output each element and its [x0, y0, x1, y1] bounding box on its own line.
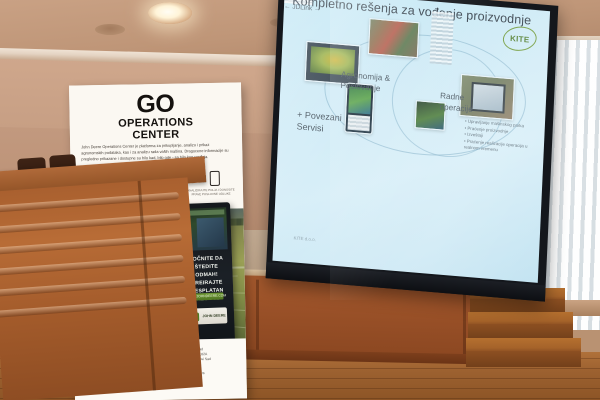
slide-footnote: KITE d.o.o. [293, 235, 316, 242]
ceiling-light-icon [148, 2, 192, 24]
phone-icon [210, 171, 220, 186]
bench-slat [0, 255, 184, 276]
slide-bullet-list: • Upravljanje mašinskog parka• Praćenje … [464, 118, 533, 156]
step-bottom [466, 338, 581, 352]
slide-surface: Kompletno rešenja za vođenje proizvodnje… [272, 0, 550, 283]
label-operations: Radne operacije [439, 90, 488, 116]
kite-logo-slide-text: KITE [502, 25, 537, 52]
bench-slat [0, 213, 181, 234]
ceiling-vent-icon [95, 24, 125, 35]
step-top-face [470, 299, 565, 313]
step-bottom-face [466, 351, 581, 367]
projector-screen[interactable]: Kompletno rešenja za vođenje proizvodnje… [266, 0, 559, 302]
bench-slat [0, 276, 185, 297]
screenshot-scene: Kompletno rešenja za vođenje proizvodnje… [0, 0, 600, 400]
thumbnail-report-document [430, 11, 454, 65]
bench-slat [0, 234, 182, 255]
banner-subtitle-line2: CENTER [70, 127, 242, 142]
kite-logo-slide: KITE [502, 25, 537, 52]
john-deere-label: JOHN DEERE [202, 313, 226, 318]
label-connected-services: + Povezani Servisi [296, 108, 357, 137]
thumbnail-aerial-field [368, 18, 419, 58]
bench-front-panel [0, 177, 203, 400]
bench-slat [0, 192, 179, 213]
banner-title: GO [69, 90, 241, 117]
kiosk-screenshot-map [197, 217, 225, 247]
bench-slat [0, 297, 187, 318]
stage-panel-divider [256, 280, 259, 352]
step-middle-face [468, 324, 573, 339]
banner-feature-caption: ANALIZIRAJTE POLJA I DONOSITE PRAVE POSL… [187, 188, 235, 197]
